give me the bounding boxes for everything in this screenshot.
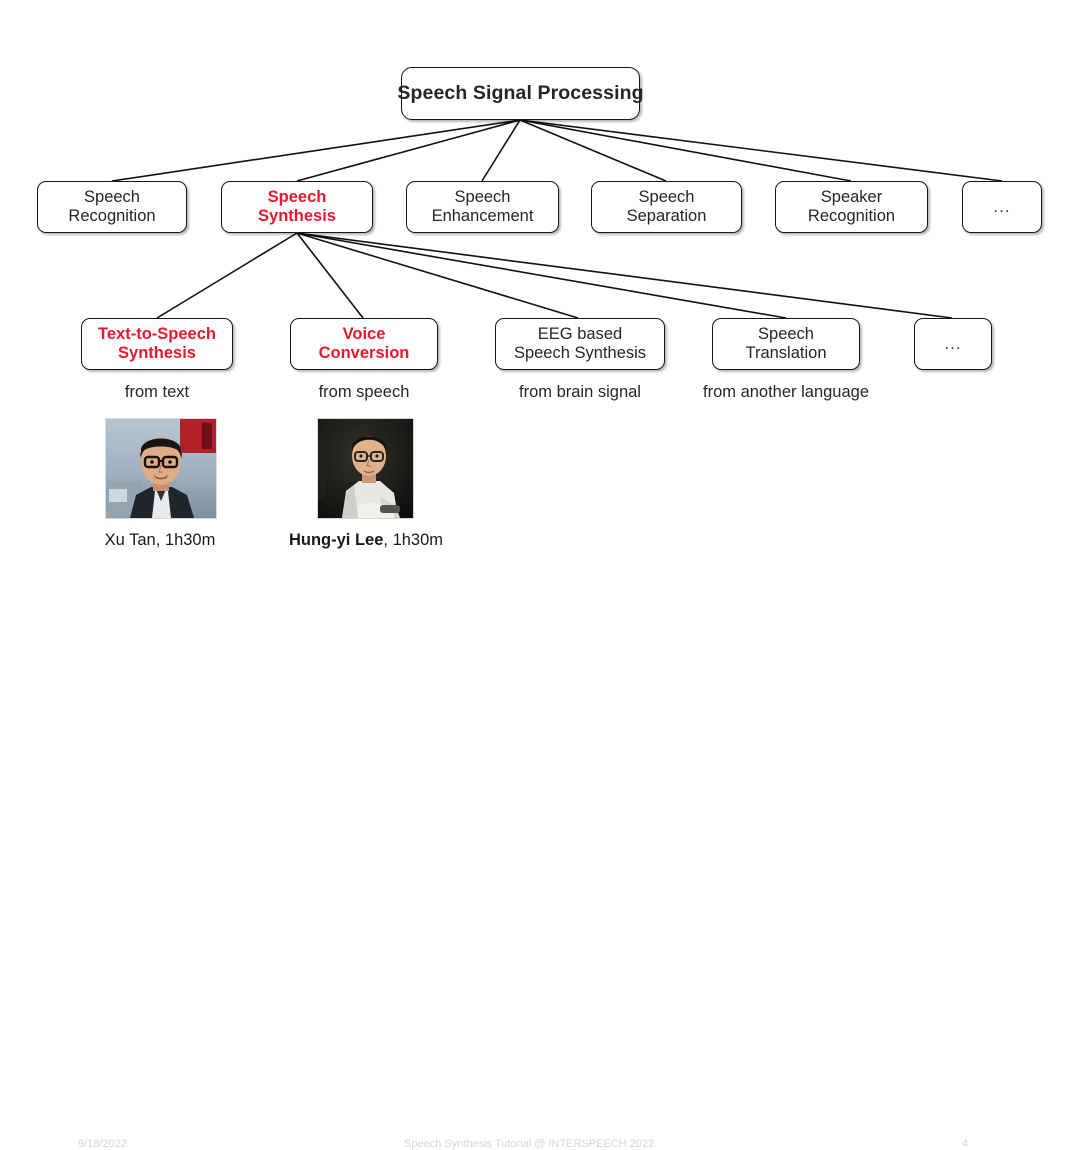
speaker-label-xu-tan: Xu Tan, 1h30m xyxy=(90,531,230,550)
node-label-line-2: Translation xyxy=(745,344,826,363)
edge-root-to-speaker-recognition xyxy=(520,120,851,181)
node-label-line-1: EEG based xyxy=(538,325,622,344)
speaker-label-hung-yi-lee: Hung-yi Lee, 1h30m xyxy=(283,531,449,550)
caption-from-brain-signal: from brain signal xyxy=(495,383,665,402)
edge-root-to-speech-synthesis xyxy=(297,120,520,181)
edge-synthesis-to-voice-conversion xyxy=(297,233,363,318)
node-label-line-1: Text-to-Speech xyxy=(98,325,216,344)
node-speech-separation[interactable]: Speech Separation xyxy=(591,181,742,233)
edge-synthesis-to-eeg xyxy=(297,233,578,318)
node-label-line-2: Conversion xyxy=(319,344,410,363)
edge-root-to-speech-separation xyxy=(520,120,666,181)
node-label-line-1: Speech xyxy=(84,188,140,207)
photo-xu-tan xyxy=(105,418,217,519)
node-label-line-1: Speaker xyxy=(821,188,882,207)
node-more-level3[interactable]: ... xyxy=(914,318,992,370)
footer-date: 9/18/2022 xyxy=(78,1138,127,1150)
node-label-line-1: Speech xyxy=(268,188,327,207)
edge-root-to-speech-recognition xyxy=(112,120,520,181)
caption-from-text: from text xyxy=(81,383,233,402)
node-label-ellipsis: ... xyxy=(993,197,1010,217)
node-label-line-2: Recognition xyxy=(808,207,895,226)
node-label-line-1: Speech xyxy=(639,188,695,207)
photo-hung-yi-lee xyxy=(317,418,414,519)
edge-synthesis-to-more-level3 xyxy=(297,233,952,318)
node-more-level2[interactable]: ... xyxy=(962,181,1042,233)
photo-hung-yi-lee-image xyxy=(318,419,413,518)
node-label-ellipsis: ... xyxy=(944,334,961,354)
edge-synthesis-to-text-to-speech xyxy=(157,233,297,318)
node-speech-enhancement[interactable]: Speech Enhancement xyxy=(406,181,559,233)
node-label: Speech Signal Processing xyxy=(397,82,643,105)
node-label-line-1: Speech xyxy=(758,325,814,344)
node-label-line-1: Voice xyxy=(343,325,386,344)
caption-from-another-language: from another language xyxy=(688,383,884,402)
edge-root-to-speech-enhancement xyxy=(482,120,520,181)
caption-from-speech: from speech xyxy=(290,383,438,402)
speaker-name: Hung-yi Lee xyxy=(289,531,383,549)
speaker-duration: , 1h30m xyxy=(383,531,443,549)
node-speech-translation[interactable]: Speech Translation xyxy=(712,318,860,370)
node-label-line-2: Recognition xyxy=(68,207,155,226)
slide-canvas: Speech Signal Processing Speech Recognit… xyxy=(0,0,1080,607)
footer-page-number: 4 xyxy=(962,1138,968,1150)
node-speech-synthesis[interactable]: Speech Synthesis xyxy=(221,181,373,233)
photo-xu-tan-image xyxy=(106,419,216,518)
footer-title: Speech Synthesis Tutorial @ INTERSPEECH … xyxy=(404,1138,654,1150)
speaker-duration: , 1h30m xyxy=(156,531,216,549)
node-label-line-1: Speech xyxy=(455,188,511,207)
node-label-line-2: Separation xyxy=(627,207,707,226)
node-label-line-2: Synthesis xyxy=(258,207,336,226)
slide-footer: 9/18/2022 Speech Synthesis Tutorial @ IN… xyxy=(0,566,1080,607)
edge-root-to-more-level2 xyxy=(520,120,1002,181)
node-voice-conversion[interactable]: Voice Conversion xyxy=(290,318,438,370)
edge-synthesis-to-speech-translation xyxy=(297,233,786,318)
node-speaker-recognition[interactable]: Speaker Recognition xyxy=(775,181,928,233)
node-speech-recognition[interactable]: Speech Recognition xyxy=(37,181,187,233)
node-label-line-2: Enhancement xyxy=(432,207,534,226)
node-label-line-2: Speech Synthesis xyxy=(514,344,646,363)
node-text-to-speech-synthesis[interactable]: Text-to-Speech Synthesis xyxy=(81,318,233,370)
node-eeg-based-speech-synthesis[interactable]: EEG based Speech Synthesis xyxy=(495,318,665,370)
node-label-line-2: Synthesis xyxy=(118,344,196,363)
node-speech-signal-processing[interactable]: Speech Signal Processing xyxy=(401,67,640,120)
speaker-name: Xu Tan xyxy=(105,531,156,549)
